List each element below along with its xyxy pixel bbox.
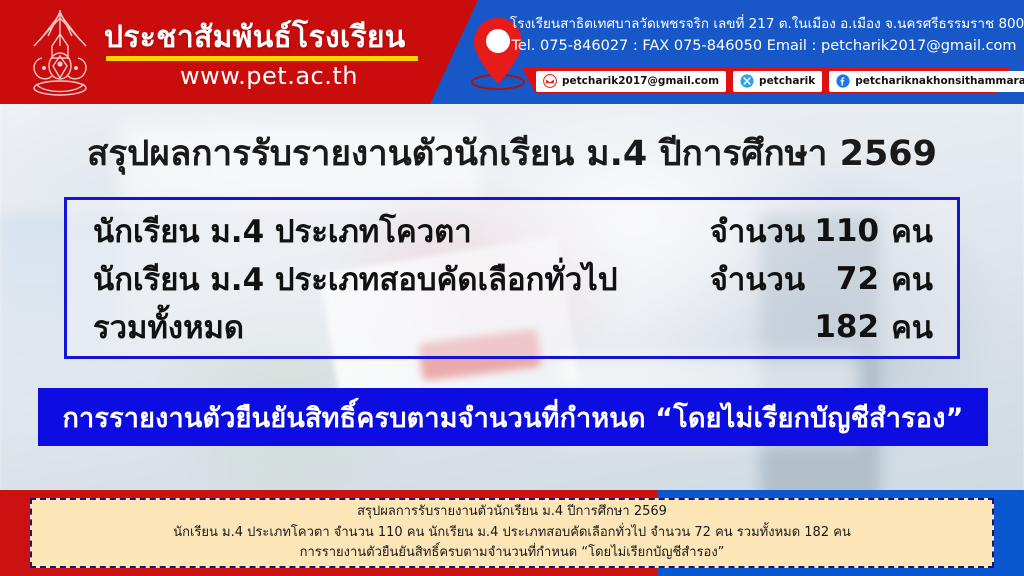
announcement-banner: การรายงานตัวยืนยันสิทธิ์ครบตามจำนวนที่กำ… — [38, 388, 988, 446]
summary-row-label: รวมทั้งหมด — [93, 302, 244, 352]
summary-row-exam: นักเรียน ม.4 ประเภทสอบคัดเลือกทั่วไป จำน… — [93, 254, 933, 304]
header-address: โรงเรียนสาธิตเทศบาลวัดเพชรจริก เลขที่ 21… — [510, 12, 1018, 34]
summary-row-quota: นักเรียน ม.4 ประเภทโควตา จำนวน 110 คน — [93, 206, 933, 256]
x-twitter-icon — [740, 74, 754, 88]
social-badge-label: petcharik — [759, 75, 815, 87]
social-badges: petcharik2017@gmail.com petcharik — [536, 70, 1024, 92]
social-badge-facebook[interactable]: petchariknakhonsithammarat — [829, 71, 1024, 92]
site-header: ประชาสัมพันธ์โรงเรียน www.pet.ac.th โรงเ… — [0, 0, 1024, 104]
social-badge-gmail[interactable]: petcharik2017@gmail.com — [536, 71, 726, 92]
gmail-icon — [543, 74, 557, 88]
summary-row-unit: คน — [879, 302, 933, 352]
facebook-icon — [836, 74, 850, 88]
caption-line-3: การรายงานตัวยืนยันสิทธิ์ครบตามจำนวนที่กำ… — [300, 544, 725, 563]
announcement-text: การรายงานตัวยืนยันสิทธิ์ครบตามจำนวนที่กำ… — [62, 396, 963, 439]
summary-row-total: รวมทั้งหมด 182 คน — [93, 302, 933, 352]
header-website-url[interactable]: www.pet.ac.th — [104, 62, 434, 90]
summary-box: นักเรียน ม.4 ประเภทโควตา จำนวน 110 คน นั… — [64, 197, 960, 359]
social-badge-x[interactable]: petcharik — [733, 71, 822, 92]
summary-row-label: นักเรียน ม.4 ประเภทสอบคัดเลือกทั่วไป — [93, 254, 618, 304]
header-underline — [106, 56, 418, 61]
summary-row-unit: คน — [879, 254, 933, 304]
caption-box: สรุปผลการรับรายงานตัวนักเรียน ม.4 ปีการศ… — [30, 498, 994, 568]
summary-row-number: 110 — [805, 213, 879, 249]
caption-line-2: นักเรียน ม.4 ประเภทโควตา จำนวน 110 คน นั… — [173, 524, 851, 543]
summary-row-number: 72 — [805, 261, 879, 297]
caption-line-1: สรุปผลการรับรายงานตัวนักเรียน ม.4 ปีการศ… — [357, 503, 667, 522]
summary-row-unit: คน — [879, 206, 933, 256]
header-contact: Tel. 075-846027 : FAX 075-846050 Email :… — [510, 38, 1018, 54]
poster-canvas: ประชาสัมพันธ์โรงเรียน www.pet.ac.th โรงเ… — [0, 0, 1024, 576]
page-title: สรุปผลการรับรายงานตัวนักเรียน ม.4 ปีการศ… — [0, 126, 1024, 181]
social-badge-label: petchariknakhonsithammarat — [855, 75, 1024, 87]
summary-row-word: จำนวน — [710, 206, 805, 256]
header-title: ประชาสัมพันธ์โรงเรียน — [104, 14, 434, 61]
school-emblem-icon — [22, 6, 98, 100]
social-badge-label: petcharik2017@gmail.com — [562, 75, 719, 87]
summary-row-number: 182 — [805, 309, 879, 345]
summary-row-label: นักเรียน ม.4 ประเภทโควตา — [93, 206, 472, 256]
summary-row-word: จำนวน — [710, 254, 805, 304]
footer-bar: สรุปผลการรับรายงานตัวนักเรียน ม.4 ปีการศ… — [0, 490, 1024, 576]
